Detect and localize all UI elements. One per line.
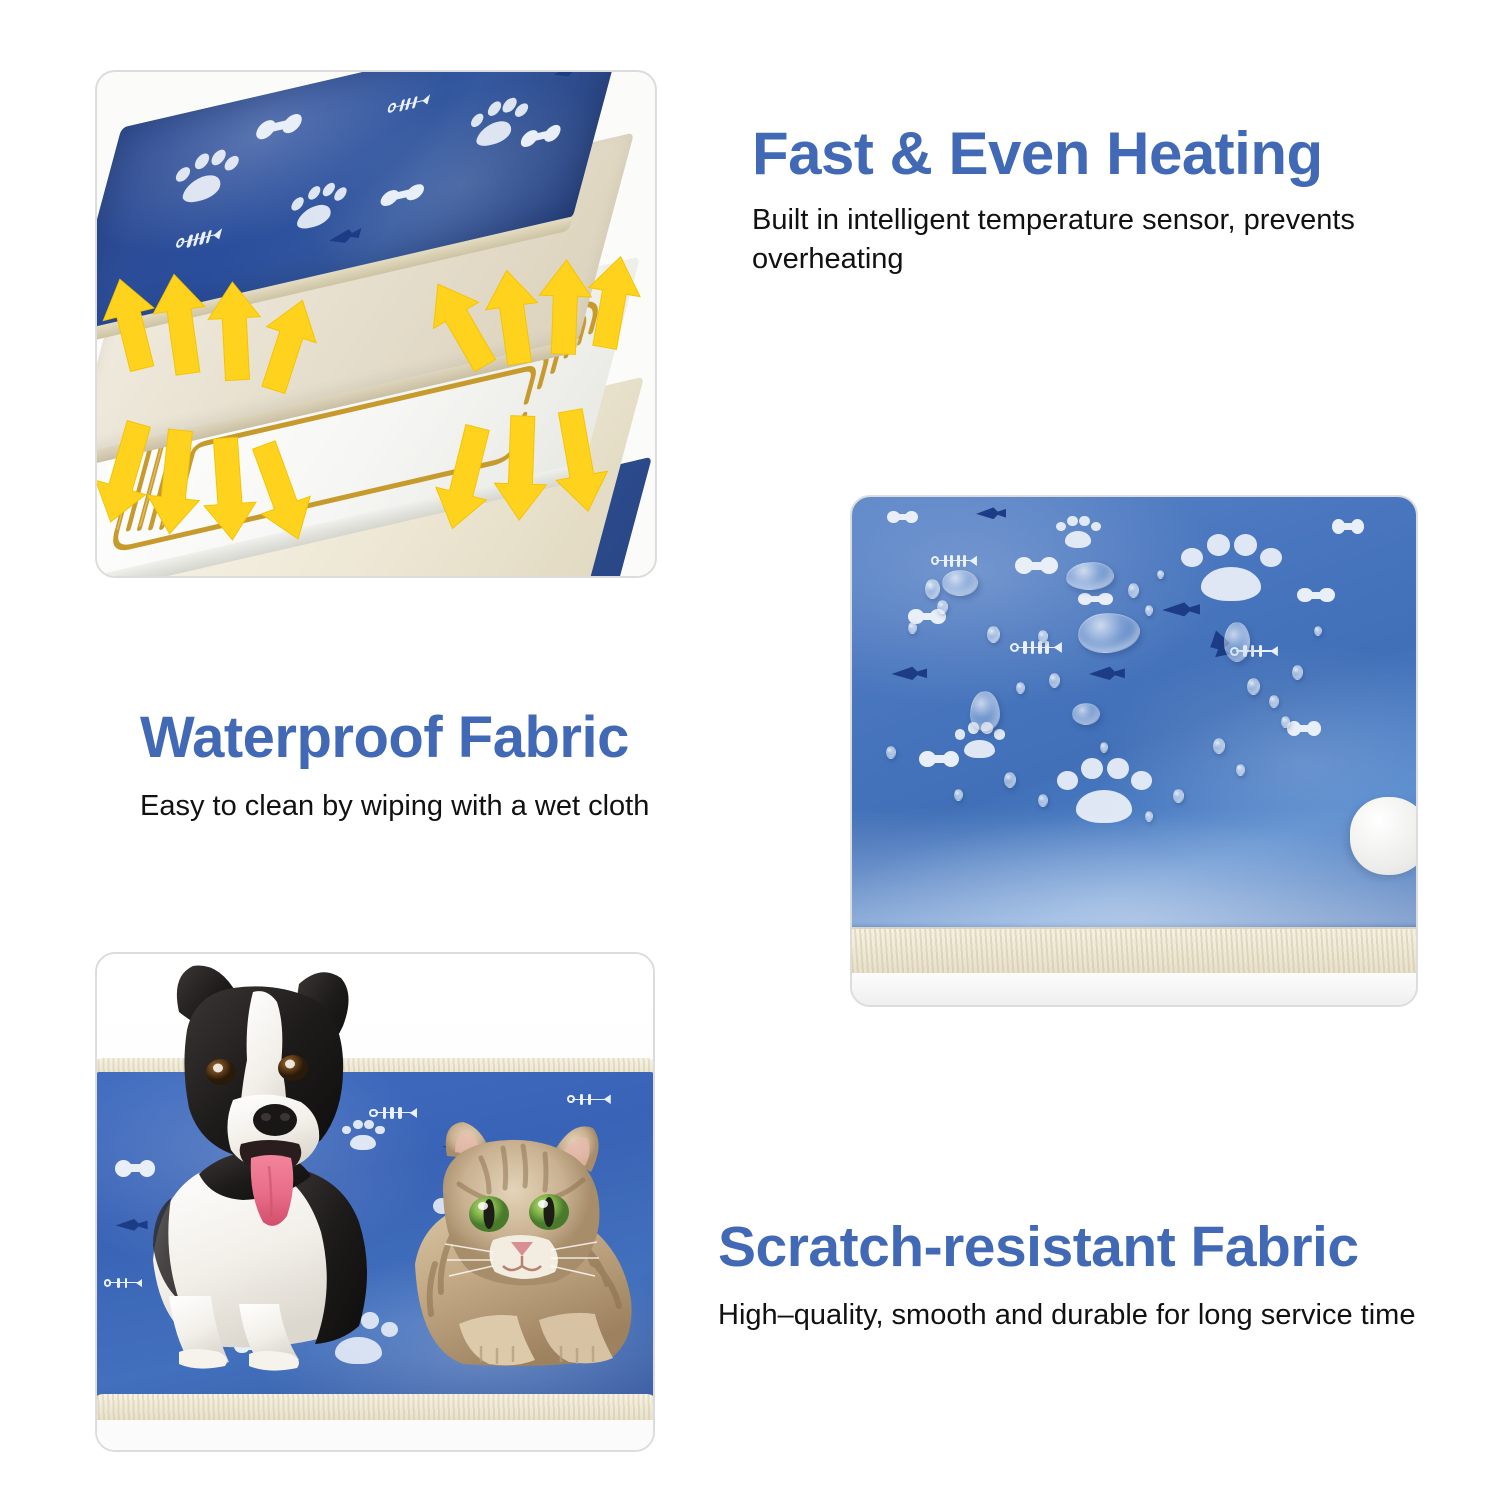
- bone-motif: [891, 514, 913, 520]
- fish-skeleton-motif: [931, 553, 977, 569]
- tabby-cat-photo: [397, 1114, 647, 1384]
- fabric-binding-edge: [852, 927, 1416, 973]
- water-droplet: [1072, 703, 1100, 725]
- paw-motif: [166, 142, 245, 212]
- bone-motif: [1083, 596, 1107, 602]
- paw-motif: [282, 176, 351, 237]
- paw-motif: [1055, 514, 1101, 550]
- water-droplet: [1314, 626, 1322, 636]
- fish-skeleton-motif: [567, 1092, 611, 1107]
- bone-motif: [1021, 562, 1051, 570]
- bone-motif: [1303, 592, 1329, 599]
- water-droplet: [1066, 562, 1114, 590]
- water-droplet: [954, 789, 963, 801]
- bone-motif: [914, 613, 940, 620]
- fish-motif: [327, 224, 363, 249]
- water-droplet: [1224, 622, 1250, 662]
- bone-motif: [925, 755, 953, 763]
- fish-motif: [891, 665, 927, 682]
- fish-motif: [976, 506, 1006, 521]
- bone-motif: [387, 188, 418, 202]
- feature-text-waterproof-fabric: Waterproof Fabric Easy to clean by wipin…: [140, 708, 860, 825]
- paw-motif: [1179, 531, 1283, 605]
- water-droplet: [1100, 742, 1108, 753]
- water-droplet: [987, 626, 1000, 643]
- feature-image-fast-even-heating: [95, 70, 657, 578]
- water-droplet: [1213, 738, 1225, 754]
- fish-motif: [1089, 665, 1125, 682]
- water-droplet: [1269, 695, 1279, 708]
- power-connector: [1350, 797, 1418, 875]
- water-droplet: [942, 570, 978, 596]
- water-droplet: [1004, 772, 1016, 788]
- subline-waterproof-fabric: Easy to clean by wiping with a wet cloth: [140, 787, 860, 826]
- headline-scratch-resistant-fabric: Scratch-resistant Fabric: [718, 1218, 1478, 1278]
- feature-image-scratch-resistant-fabric: [95, 952, 655, 1452]
- bone-motif: [526, 129, 555, 143]
- water-droplet: [1016, 682, 1025, 694]
- mat-binding-bottom: [95, 1394, 655, 1422]
- water-droplet: [1128, 583, 1139, 598]
- water-droplet: [1281, 716, 1290, 728]
- subline-scratch-resistant-fabric: High–quality, smooth and durable for lon…: [718, 1296, 1478, 1335]
- heat-arrows-down-icon: [97, 402, 657, 578]
- fish-motif: [552, 70, 583, 82]
- water-droplet: [1247, 678, 1260, 695]
- water-droplet: [1157, 570, 1164, 579]
- fabric-sheen: [850, 807, 1418, 927]
- waterproof-fabric-surface: [852, 497, 1416, 927]
- headline-fast-even-heating: Fast & Even Heating: [752, 122, 1452, 185]
- water-droplet: [1173, 789, 1184, 803]
- water-droplet: [1049, 673, 1060, 688]
- water-droplet: [1292, 665, 1303, 680]
- water-droplet: [1145, 605, 1153, 616]
- water-droplet: [908, 622, 917, 634]
- bone-motif: [262, 119, 296, 135]
- water-droplet: [970, 691, 1000, 731]
- feature-text-fast-even-heating: Fast & Even Heating Built in intelligent…: [752, 122, 1452, 278]
- panel-base-surface: [852, 973, 1416, 1005]
- fish-skeleton-motif: [386, 91, 431, 117]
- water-droplet: [1038, 794, 1048, 807]
- water-droplet: [1078, 613, 1140, 653]
- photo-floor: [97, 1420, 653, 1450]
- fish-skeleton-motif: [173, 225, 223, 253]
- headline-waterproof-fabric: Waterproof Fabric: [140, 708, 860, 769]
- feature-text-scratch-resistant-fabric: Scratch-resistant Fabric High–quality, s…: [718, 1218, 1478, 1334]
- water-droplet: [1236, 764, 1245, 776]
- bone-motif: [1292, 725, 1316, 732]
- exploded-layers-diagram: [97, 72, 655, 576]
- fish-skeleton-motif: [1010, 639, 1062, 656]
- subline-fast-even-heating: Built in intelligent temperature sensor,…: [752, 201, 1452, 278]
- water-droplet: [886, 746, 896, 759]
- border-collie-dog-photo: [135, 960, 425, 1380]
- feature-image-waterproof-fabric: [850, 495, 1418, 1007]
- bone-motif: [1337, 523, 1359, 530]
- water-droplet: [937, 600, 948, 614]
- water-droplet: [925, 579, 940, 599]
